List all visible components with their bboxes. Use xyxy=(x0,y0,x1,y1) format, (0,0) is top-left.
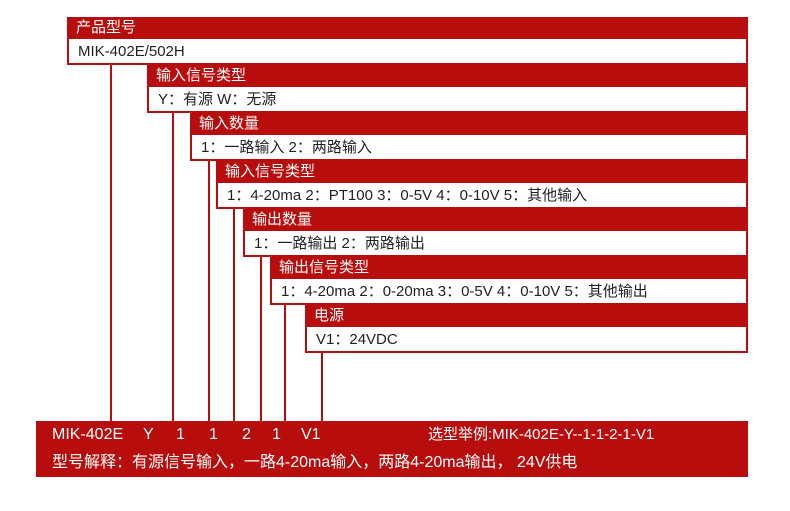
model-code-token-1: Y xyxy=(143,421,154,449)
spec-header-input_signal_type_2: 输入信号类型 xyxy=(216,161,748,183)
spec-body-input_signal_type_2: 1：4-20ma 2：PT100 3：0-5V 4：0-10V 5：其他输入 xyxy=(216,183,748,209)
model-code-token-6: V1 xyxy=(301,421,321,449)
spec-body-input_signal_type: Y：有源 W：无源 xyxy=(147,87,748,113)
summary-bar: MIK-402EY1121V1 选型举例:MIK-402E-Y--1-1-2-1… xyxy=(36,421,748,477)
connector-line-output_quantity xyxy=(260,257,262,421)
model-code-token-3: 1 xyxy=(209,421,218,449)
spec-box-input_quantity: 输入数量1：一路输入 2：两路输入 xyxy=(190,113,748,161)
spec-box-product_model: 产品型号MIK-402E/502H xyxy=(67,17,748,65)
model-code-token-5: 1 xyxy=(272,421,281,449)
connector-line-output_signal_type xyxy=(284,305,286,421)
selection-example-label: 选型举例:MIK-402E-Y--1-1-2-1-V1 xyxy=(428,421,654,449)
spec-body-input_quantity: 1：一路输入 2：两路输入 xyxy=(190,135,748,161)
spec-box-output_quantity: 输出数量1：一路输出 2：两路输出 xyxy=(243,209,748,257)
spec-header-power_supply: 电源 xyxy=(305,305,748,327)
summary-code-line: MIK-402EY1121V1 选型举例:MIK-402E-Y--1-1-2-1… xyxy=(36,421,748,449)
model-selection-diagram: 产品型号MIK-402E/502H输入信号类型Y：有源 W：无源输入数量1：一路… xyxy=(0,0,790,511)
model-code-token-4: 2 xyxy=(242,421,251,449)
model-explanation-label: 型号解释：有源信号输入，一路4-20ma输入，两路4-20ma输出， 24V供电 xyxy=(52,449,577,477)
spec-header-input_signal_type: 输入信号类型 xyxy=(147,65,748,87)
connector-line-product_model xyxy=(110,65,112,421)
model-code-token-0: MIK-402E xyxy=(52,421,123,449)
spec-header-input_quantity: 输入数量 xyxy=(190,113,748,135)
spec-box-power_supply: 电源V1：24VDC xyxy=(305,305,748,353)
connector-line-input_quantity xyxy=(208,161,210,421)
spec-body-output_quantity: 1：一路输出 2：两路输出 xyxy=(243,231,748,257)
connector-line-power_supply xyxy=(321,353,323,421)
spec-box-output_signal_type: 输出信号类型1：4-20ma 2：0-20ma 3：0-5V 4：0-10V 5… xyxy=(270,257,748,305)
spec-header-output_signal_type: 输出信号类型 xyxy=(270,257,748,279)
spec-body-output_signal_type: 1：4-20ma 2：0-20ma 3：0-5V 4：0-10V 5：其他输出 xyxy=(270,279,748,305)
spec-body-power_supply: V1：24VDC xyxy=(305,327,748,353)
spec-body-product_model: MIK-402E/502H xyxy=(67,39,748,65)
connector-line-input_signal_type xyxy=(172,113,174,421)
spec-box-input_signal_type_2: 输入信号类型1：4-20ma 2：PT100 3：0-5V 4：0-10V 5：… xyxy=(216,161,748,209)
connector-line-input_signal_type_2 xyxy=(233,209,235,421)
spec-header-output_quantity: 输出数量 xyxy=(243,209,748,231)
spec-header-product_model: 产品型号 xyxy=(67,17,748,39)
spec-box-input_signal_type: 输入信号类型Y：有源 W：无源 xyxy=(147,65,748,113)
model-code-token-2: 1 xyxy=(176,421,185,449)
